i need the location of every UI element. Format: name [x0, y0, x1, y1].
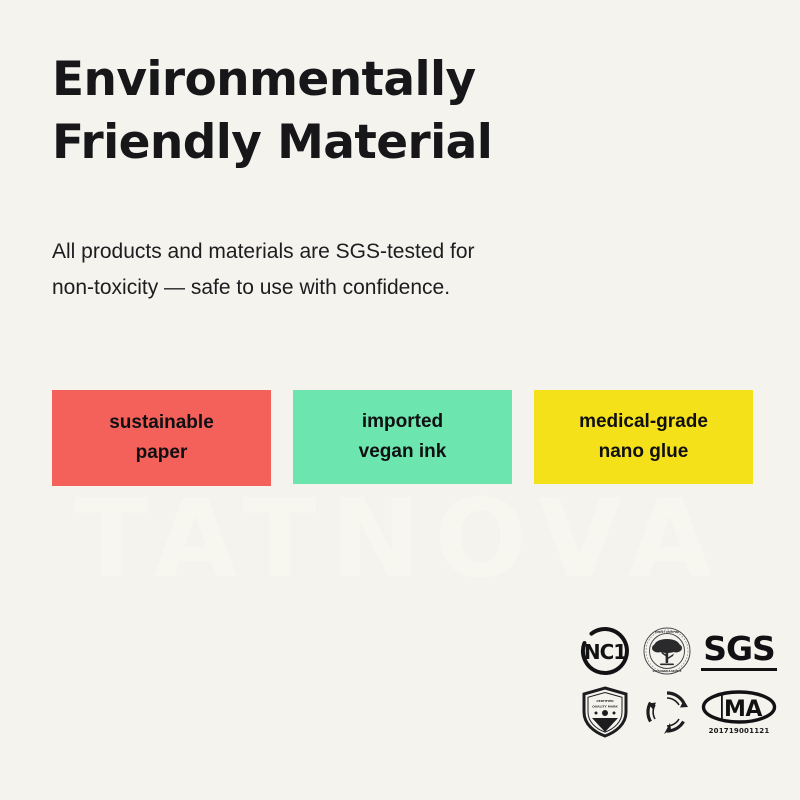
material-chip-sustainable-paper: sustainable paper — [52, 390, 271, 486]
material-chip-label-line-1: imported — [362, 407, 443, 437]
sgs-wordmark-icon: SGS — [698, 623, 780, 679]
brand-watermark: TATNOVA — [0, 486, 800, 594]
forest-tree-seal-icon: FOREST CERTIFIED SUSTAINABLE SOURCE — [638, 623, 696, 679]
material-chip-imported-vegan-ink: imported vegan ink — [293, 390, 512, 484]
page-title-line-2: Friendly Material — [52, 111, 692, 174]
svg-text:SUSTAINABLE SOURCE: SUSTAINABLE SOURCE — [653, 670, 682, 673]
svg-text:MA: MA — [724, 697, 762, 722]
page-subtitle-line-1: All products and materials are SGS-teste… — [52, 234, 672, 270]
certification-badge-row-bottom: CERTIFIED QUALITY MARK — [576, 682, 781, 742]
material-chip-list: sustainable paper imported vegan ink med… — [52, 390, 753, 486]
nc1-circle-icon: NC1 — [576, 623, 634, 679]
svg-text:CERTIFIED: CERTIFIED — [596, 699, 614, 703]
material-chip-label-line-1: medical-grade — [579, 407, 708, 437]
svg-text:FOREST CERTIFIED: FOREST CERTIFIED — [655, 631, 679, 634]
svg-text:NC1: NC1 — [584, 640, 626, 664]
page-title: Environmentally Friendly Material — [52, 48, 692, 174]
page-subtitle-line-2: non-toxicity — safe to use with confiden… — [52, 270, 672, 306]
poster-page: TATNOVA Environmentally Friendly Materia… — [0, 0, 800, 800]
material-chip-label-line-1: sustainable — [109, 408, 214, 438]
material-chip-label-line-2: paper — [136, 438, 188, 468]
material-chip-label-line-2: vegan ink — [359, 437, 447, 467]
shield-crest-icon: CERTIFIED QUALITY MARK — [576, 683, 634, 741]
certification-badge-group: NC1 — [576, 622, 781, 742]
sgs-underline-rule — [701, 668, 777, 671]
material-chip-label-line-2: nano glue — [599, 437, 689, 467]
recycling-arrows-icon — [638, 683, 696, 741]
page-subtitle: All products and materials are SGS-teste… — [52, 234, 672, 306]
svg-text:QUALITY MARK: QUALITY MARK — [592, 705, 618, 709]
ma-certificate-number: 201719001121 — [709, 727, 770, 735]
certification-badge-row-top: NC1 — [576, 622, 781, 680]
material-chip-medical-grade-nano-glue: medical-grade nano glue — [534, 390, 753, 484]
ma-oval-icon: MA 201719001121 — [698, 683, 780, 741]
page-title-line-1: Environmentally — [52, 48, 692, 111]
sgs-wordmark-label: SGS — [703, 632, 775, 665]
